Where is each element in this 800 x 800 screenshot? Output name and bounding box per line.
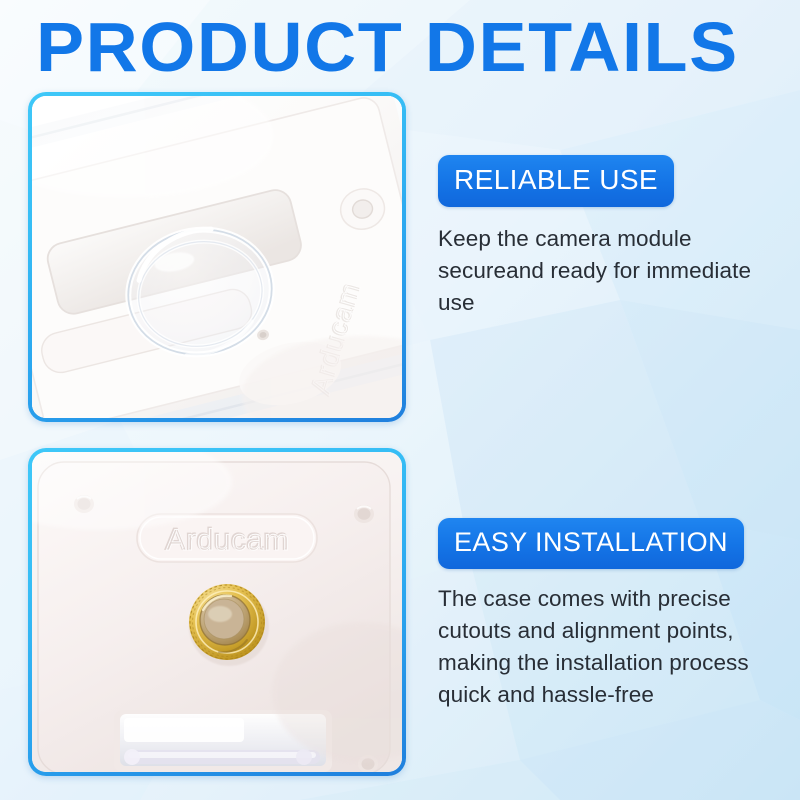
feature-body-easy-installation: The case comes with precise cutouts and … (438, 583, 780, 711)
feature-section-reliable-use: RELIABLE USE Keep the camera module secu… (438, 155, 780, 319)
product-details-infographic: PRODUCT DETAILS (0, 0, 800, 800)
feature-body-reliable-use: Keep the camera module secureand ready f… (438, 223, 780, 319)
product-photo-frame-bottom: Arducam Arducam (28, 448, 406, 776)
product-photo-frame-top: Arducam Arducam (28, 92, 406, 422)
page-title-text: PRODUCT DETAILS (36, 8, 790, 86)
svg-text:Arducam: Arducam (166, 524, 290, 557)
case-back-tripod-mount-image: Arducam Arducam (32, 452, 402, 772)
feature-section-easy-installation: EASY INSTALLATION The case comes with pr… (438, 518, 780, 711)
page-title: PRODUCT DETAILS (36, 8, 768, 86)
product-photo-case-back: Arducam Arducam (32, 452, 402, 772)
clear-case-lens-ring-image: Arducam Arducam (32, 96, 402, 418)
feature-badge-easy-installation: EASY INSTALLATION (438, 518, 744, 569)
feature-badge-reliable-use: RELIABLE USE (438, 155, 674, 207)
screw-hole (354, 505, 374, 523)
product-photo-clear-case: Arducam Arducam (32, 96, 402, 418)
